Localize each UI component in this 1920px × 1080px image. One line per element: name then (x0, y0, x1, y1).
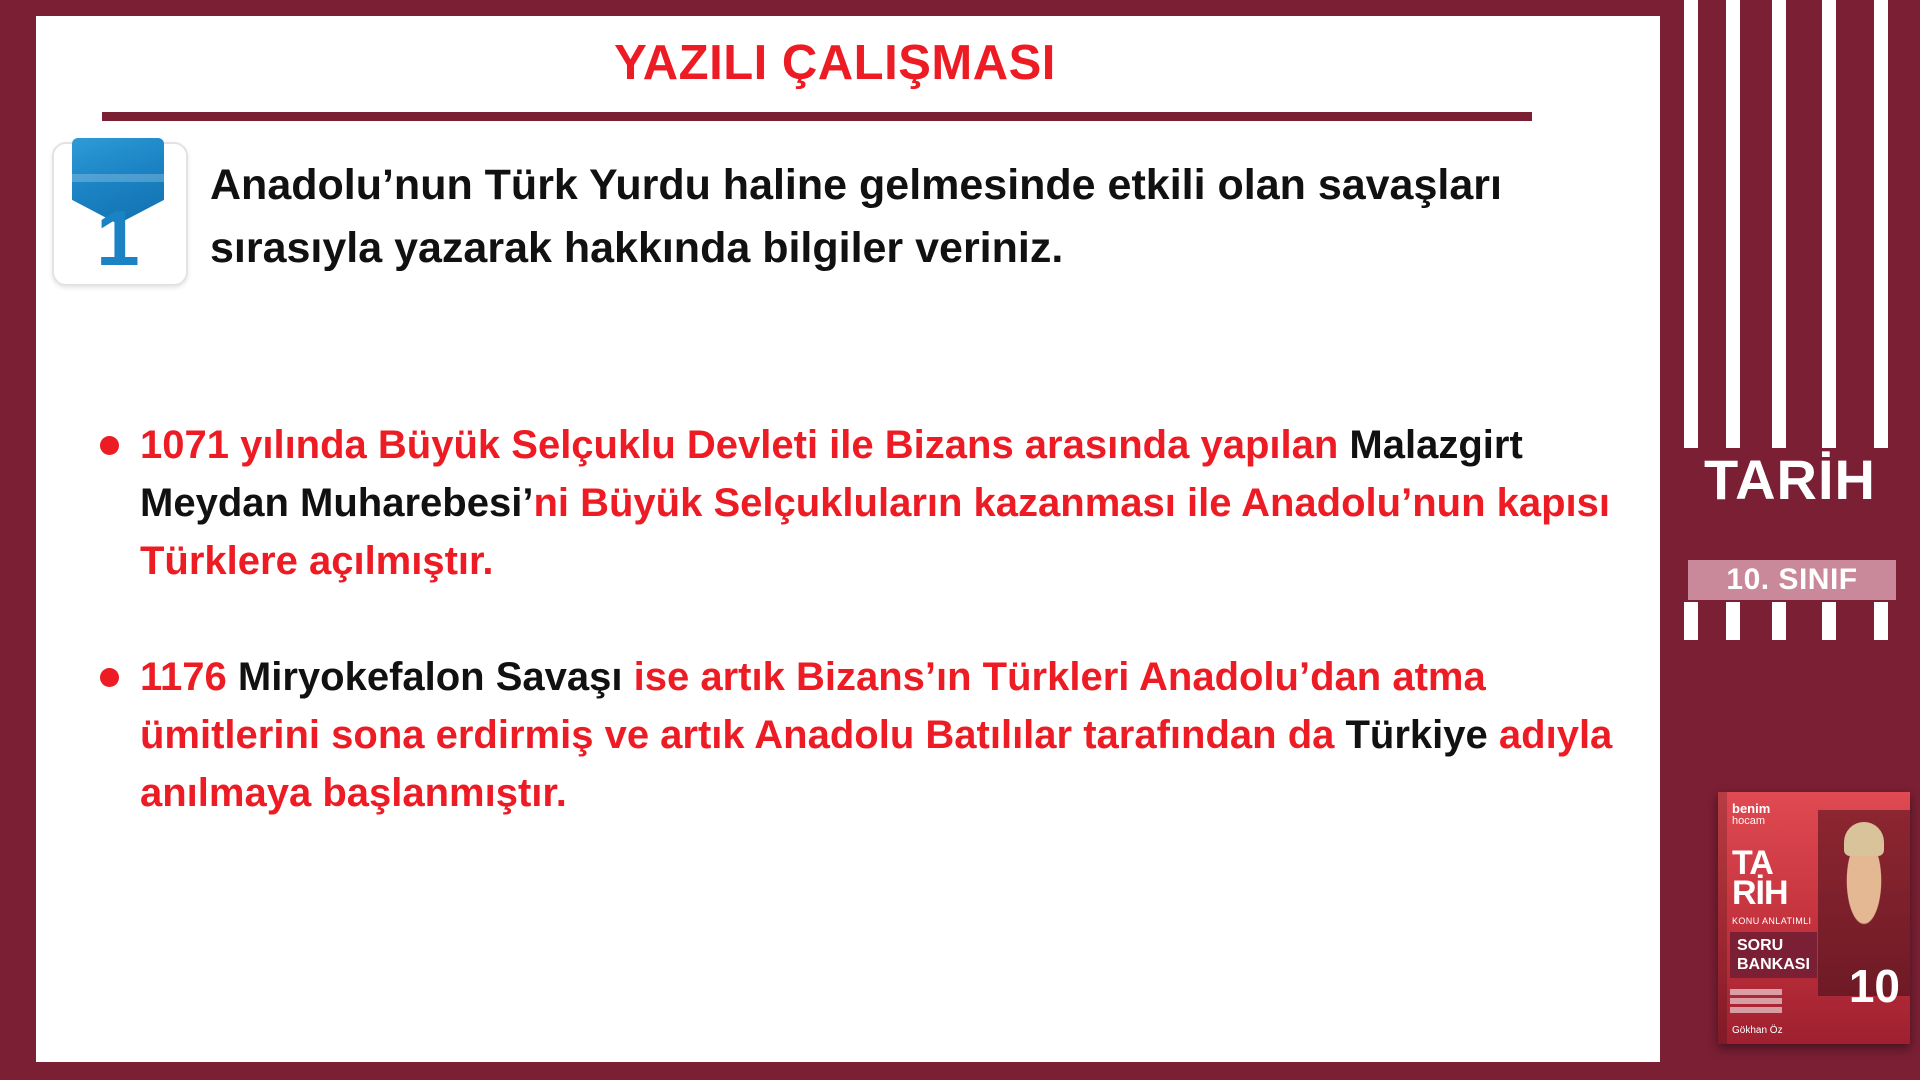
bullet-2-segment-2: Miryokefalon Savaşı (238, 655, 634, 699)
book-kicker: KONU ANLATIMLI (1732, 916, 1811, 926)
question-number: 1 (50, 196, 186, 280)
title-underline-rule (102, 112, 1532, 121)
question-text: Anadolu’nun Türk Yurdu haline gelmesinde… (210, 138, 1610, 280)
answer-bullet-list: 1071 yılında Büyük Selçuklu Devleti ile … (96, 416, 1626, 822)
bullet-dot-icon (100, 668, 119, 687)
bullet-dot-icon (100, 436, 119, 455)
book-cover-thumbnail: benim hocam TA RİH KONU ANLATIMLI SORU B… (1718, 792, 1910, 1044)
book-author: Gökhan Öz (1732, 1025, 1783, 1036)
list-item: 1176 Miryokefalon Savaşı ise artık Bizan… (96, 648, 1626, 822)
slide-root: TARİH 10. SINIF benim hocam TA RİH KONU … (0, 0, 1920, 1080)
book-spine (1718, 792, 1727, 1044)
content-column: YAZILI ÇALIŞMASI 1 Anadolu’nun Türk Yurd… (50, 16, 1650, 1062)
book-grade-number: 10 (1849, 964, 1900, 1008)
brand-panel: TARİH 10. SINIF benim hocam TA RİH KONU … (1660, 0, 1920, 1080)
brand-grade-badge: 10. SINIF (1688, 560, 1896, 600)
list-item: 1071 yılında Büyük Selçuklu Devleti ile … (96, 416, 1626, 590)
frame-border-top (0, 0, 1920, 16)
brand-wordmark: TARİH (1660, 452, 1920, 508)
book-series-line2: BANKASI (1737, 956, 1810, 973)
bullet-2-segment-1: 1176 (140, 655, 238, 699)
bullet-2-segment-4: Türkiye (1346, 713, 1499, 757)
page-title: YAZILI ÇALIŞMASI (50, 34, 1620, 92)
question-number-badge: 1 (50, 138, 192, 288)
book-decorative-chips (1730, 989, 1782, 1016)
book-publisher-logo: benim hocam (1732, 802, 1770, 828)
bullet-1-segment-1: 1071 yılında Büyük Selçuklu Devleti ile … (140, 423, 1349, 467)
book-publisher-sub: hocam (1732, 815, 1770, 828)
book-publisher-name: benim (1732, 801, 1770, 816)
frame-border-left (0, 0, 36, 1080)
question-block: 1 Anadolu’nun Türk Yurdu haline gelmesin… (50, 138, 1610, 288)
frame-border-bottom (0, 1062, 1920, 1080)
book-title: TA RİH (1732, 848, 1788, 908)
book-series-line1: SORU (1737, 937, 1783, 954)
book-title-line2: RİH (1732, 874, 1788, 912)
book-series-badge: SORU BANKASI (1730, 932, 1817, 978)
